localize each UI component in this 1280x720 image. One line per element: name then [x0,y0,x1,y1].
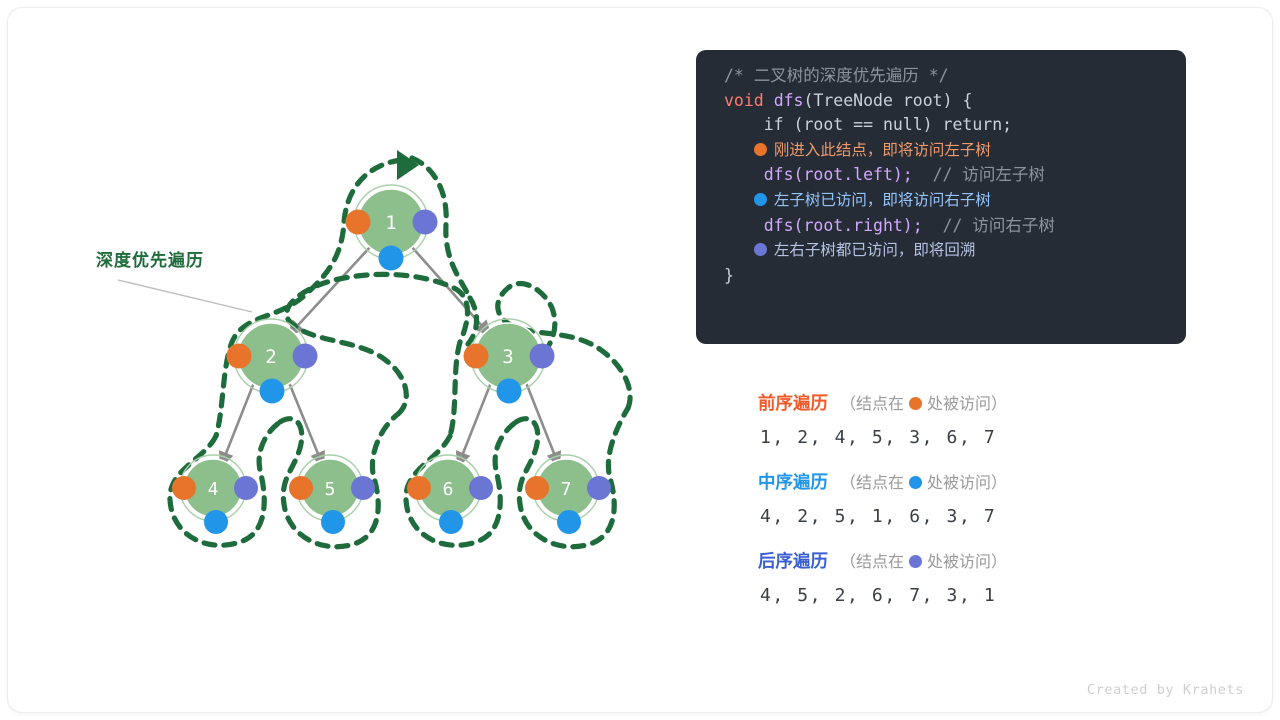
edge-3-6 [458,380,492,466]
traversal-group-inorder: 中序遍历（结点在处被访问） 4, 2, 5, 1, 6, 3, 7 [696,469,1196,537]
node-label: 2 [265,346,276,368]
post-order-dot [293,344,318,369]
traversal-note-suffix: 处被访问） [927,554,1007,571]
code-line-null-check: if (root == null) return; [696,113,1186,138]
code-line-call-left: dfs(root.left); // 访问左子树 [696,163,1186,188]
tree-nodes: 1 2 [172,185,611,534]
code-signature-rest: (TreeNode root) { [804,91,973,110]
post-order-dot-icon [909,555,922,568]
edge-2-5 [288,380,323,466]
code-call-right-comment: // 访问右子树 [943,216,1055,235]
code-call-left-text: dfs(root.left); [724,165,913,184]
callout-leader-line [118,280,252,312]
annotation-inorder-text: 左子树已访问，即将访问右子树 [774,192,991,209]
post-order-dot-icon [754,243,767,256]
pre-order-dot [525,476,549,500]
post-order-dot [587,476,611,500]
pre-order-dot-icon [754,143,767,156]
annotation-preorder-text: 刚进入此结点，即将访问左子树 [774,142,991,159]
diagram-canvas: 1 2 [0,0,1280,720]
code-line-annotation-preorder: 刚进入此结点，即将访问左子树 [696,138,1186,164]
pre-order-dot [407,476,431,500]
in-order-dot [321,510,345,534]
tree-node-7[interactable]: 7 [525,455,611,534]
pre-order-dot-icon [909,397,922,410]
in-order-dot [497,379,522,404]
in-order-dot [204,510,228,534]
traversal-heading-preorder: 前序遍历（结点在处被访问） [696,390,1196,418]
pre-order-dot [346,210,371,235]
tree-svg: 1 2 [8,8,668,712]
node-label: 3 [502,346,513,368]
traversal-sequence-postorder: 4, 5, 2, 6, 7, 3, 1 [696,576,1196,616]
node-label: 6 [443,479,454,500]
traversal-group-postorder: 后序遍历（结点在处被访问） 4, 5, 2, 6, 7, 3, 1 [696,548,1196,616]
node-label: 1 [385,212,396,234]
post-order-dot [234,476,258,500]
in-order-dot [379,246,404,271]
pre-order-dot [464,344,489,369]
post-order-dot [469,476,493,500]
traversal-note-preorder: （结点在处被访问） [840,396,1007,413]
edge-3-7 [525,380,559,466]
traversal-note-suffix: 处被访问） [927,475,1007,492]
traversal-note-prefix: （结点在 [840,396,904,413]
content-card: 1 2 [8,8,1272,712]
traversal-sequence-preorder: 1, 2, 4, 5, 3, 6, 7 [696,418,1196,458]
traversal-note-prefix: （结点在 [840,475,904,492]
node-label: 5 [325,479,336,500]
traversal-group-preorder: 前序遍历（结点在处被访问） 1, 2, 4, 5, 3, 6, 7 [696,390,1196,458]
post-order-dot [351,476,375,500]
node-label: 4 [208,479,219,500]
dfs-path-5-up-to-root [287,274,468,414]
traversal-note-postorder: （结点在处被访问） [840,554,1007,571]
traversal-name-preorder: 前序遍历 [758,393,828,413]
code-line-signature: void dfs(TreeNode root) { [696,89,1186,114]
edge-2-4 [221,380,255,466]
traversal-name-postorder: 后序遍历 [758,551,828,571]
traversal-results: 前序遍历（结点在处被访问） 1, 2, 4, 5, 3, 6, 7 中序遍历（结… [696,390,1196,627]
pre-order-dot [289,476,313,500]
code-close-brace-text: } [724,266,734,285]
traversal-note-prefix: （结点在 [840,554,904,571]
traversal-note-suffix: 处被访问） [927,396,1007,413]
code-line-annotation-postorder: 左右子树都已访问，即将回溯 [696,238,1186,264]
pre-order-dot [172,476,196,500]
code-comment-text: /* 二叉树的深度优先遍历 */ [724,66,949,85]
post-order-dot [530,344,555,369]
in-order-dot [557,510,581,534]
code-call-left-comment: // 访问左子树 [933,165,1045,184]
play-arrow-icon [397,150,419,180]
code-line-call-right: dfs(root.right); // 访问右子树 [696,214,1186,239]
code-line-annotation-inorder: 左子树已访问，即将访问右子树 [696,188,1186,214]
in-order-dot-icon [754,193,767,206]
code-null-check-text: if (root == null) return; [724,115,1012,134]
in-order-dot-icon [909,476,922,489]
in-order-dot [439,510,463,534]
traversal-sequence-inorder: 4, 2, 5, 1, 6, 3, 7 [696,497,1196,537]
code-block: /* 二叉树的深度优先遍历 */ void dfs(TreeNode root)… [696,50,1186,344]
attribution-footer: Created by Krahets [1087,682,1244,698]
post-order-dot [413,210,438,235]
traversal-note-inorder: （结点在处被访问） [840,475,1007,492]
node-label: 7 [561,479,572,500]
in-order-dot [260,379,285,404]
traversal-heading-postorder: 后序遍历（结点在处被访问） [696,548,1196,576]
annotation-postorder-text: 左右子树都已访问，即将回溯 [774,242,976,259]
traversal-heading-inorder: 中序遍历（结点在处被访问） [696,469,1196,497]
code-keyword-void: void [724,91,764,110]
traversal-name-inorder: 中序遍历 [758,472,828,492]
edge-1-2 [289,246,371,335]
binary-tree-diagram: 1 2 [8,8,668,712]
code-function-name: dfs [774,91,804,110]
code-line-close-brace: } [696,264,1186,289]
dfs-path-right-subtree [450,342,460,436]
dfs-callout-label: 深度优先遍历 [96,246,204,271]
code-call-right-text: dfs(root.right); [724,216,923,235]
pre-order-dot [227,344,252,369]
code-line-comment: /* 二叉树的深度优先遍历 */ [696,64,1186,89]
tree-node-5[interactable]: 5 [289,455,375,534]
